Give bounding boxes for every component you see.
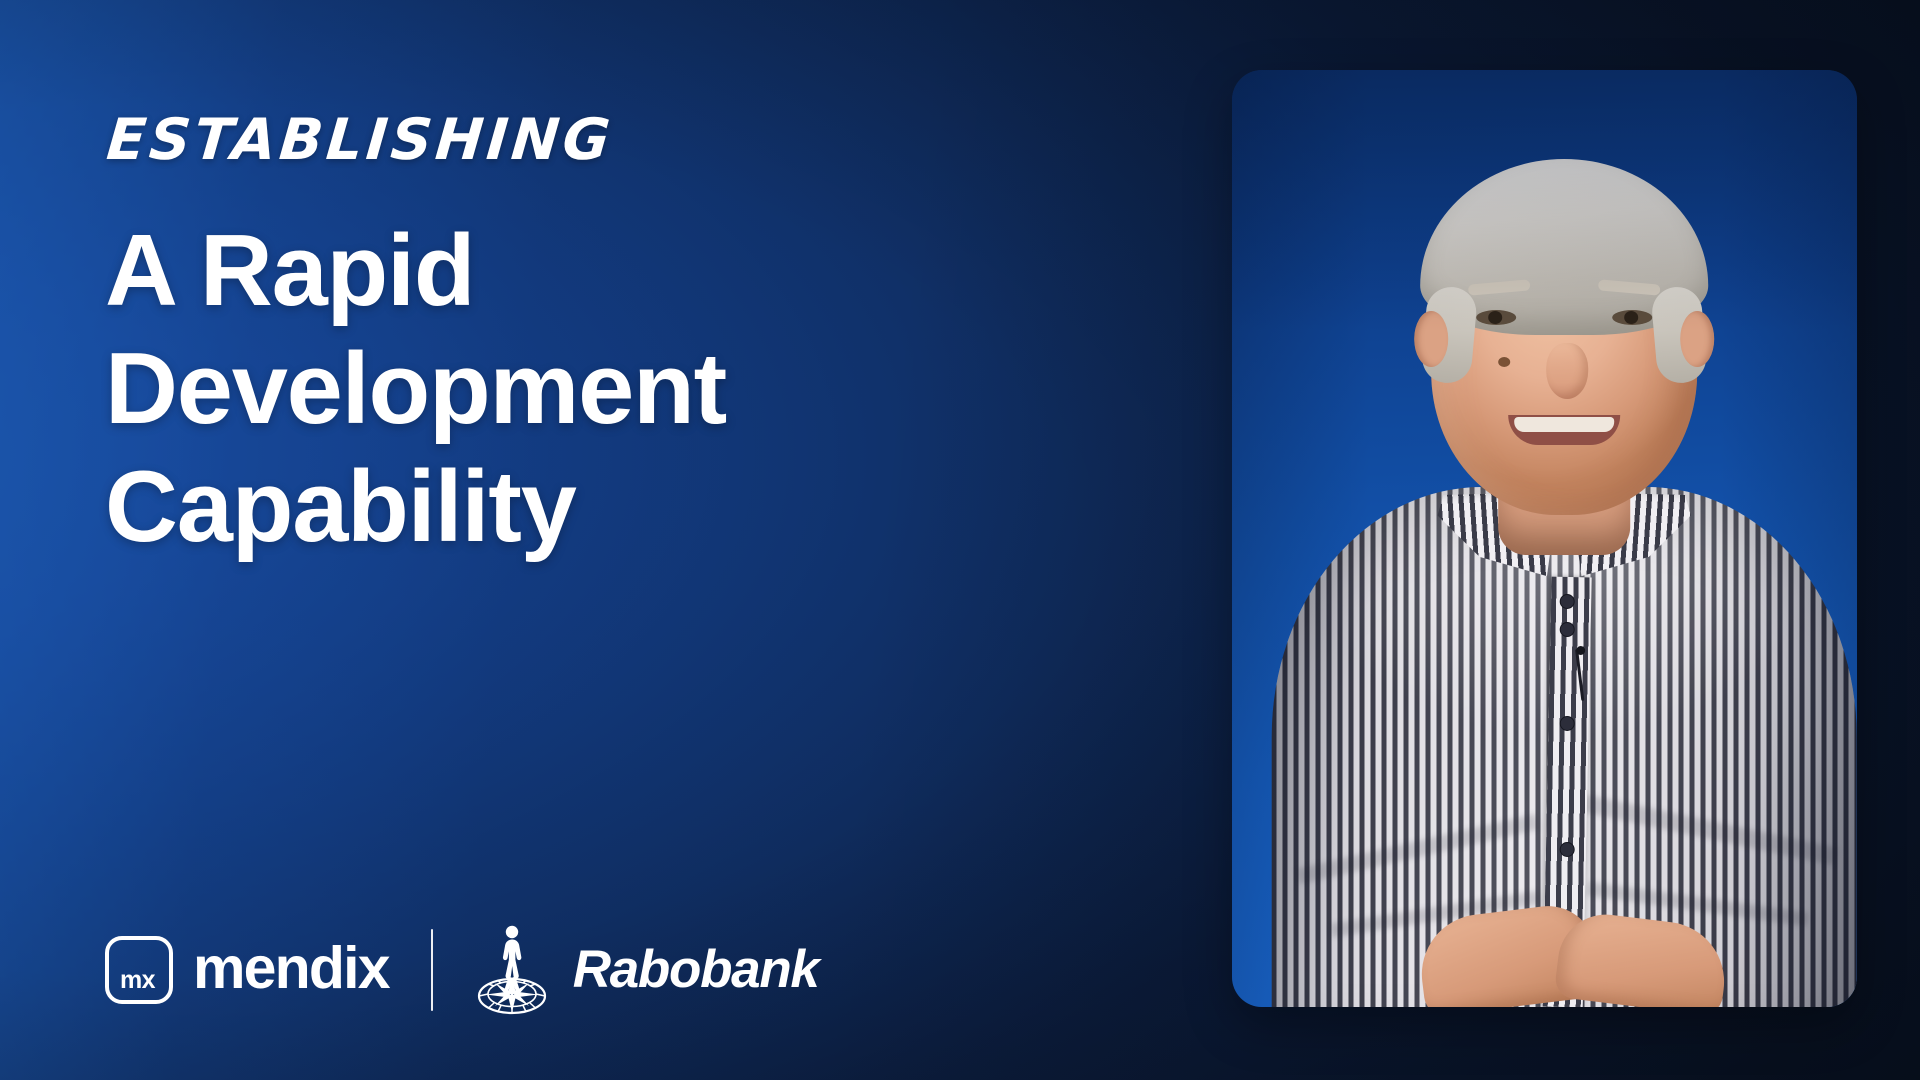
pupil [1488, 311, 1502, 324]
shirt-button [1559, 594, 1574, 609]
ear-left [1414, 311, 1448, 367]
text-column: ESTABLISHING A Rapid Development Capabil… [105, 0, 1115, 1080]
hair [1420, 159, 1708, 335]
presenter-figure [1244, 177, 1857, 1007]
lavalier-mic [1576, 646, 1585, 655]
page-title: A Rapid Development Capability [105, 212, 1085, 566]
headline-line-2: Development [105, 330, 1085, 448]
shirt-button [1559, 842, 1574, 857]
rabobank-figure-compass-icon [469, 924, 555, 1016]
ear-right [1680, 311, 1714, 367]
folded-hands [1420, 895, 1720, 1007]
eyebrow-text: ESTABLISHING [105, 112, 616, 169]
mendix-wordmark: mendix [193, 939, 389, 1001]
presenter-photo [1232, 70, 1857, 1007]
smiling-mouth [1508, 415, 1620, 445]
shirt-button [1559, 622, 1574, 637]
mendix-mark-icon: mx [105, 936, 173, 1004]
logo-divider [431, 929, 433, 1011]
headline-line-3: Capability [105, 448, 1085, 566]
rabobank-wordmark: Rabobank [573, 943, 819, 998]
photo-inner [1232, 70, 1857, 1007]
hand-right [1553, 909, 1730, 1007]
headline-line-1: A Rapid [105, 212, 1085, 330]
rabobank-logo: Rabobank [469, 924, 819, 1016]
eye-right [1612, 310, 1652, 325]
teeth [1514, 417, 1614, 432]
mendix-logo: mx mendix [105, 936, 389, 1004]
cheek-mole [1498, 357, 1510, 367]
slide-canvas: ESTABLISHING A Rapid Development Capabil… [0, 0, 1920, 1080]
shirt-button [1559, 716, 1574, 731]
nose [1546, 343, 1588, 399]
logo-lockup: mx mendix [105, 918, 819, 1022]
eye-left [1476, 310, 1516, 325]
mendix-mark-label: mx [120, 968, 155, 993]
pupil [1624, 311, 1638, 324]
